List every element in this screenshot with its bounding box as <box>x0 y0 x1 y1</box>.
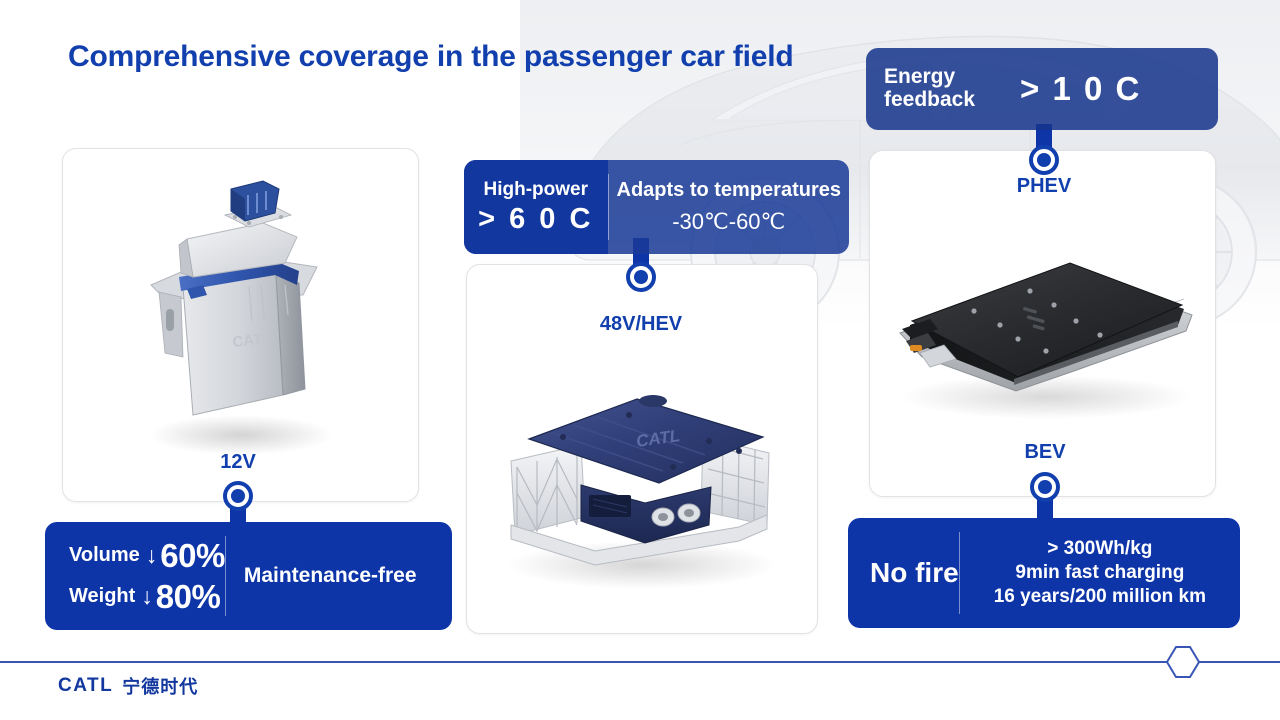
weight-value: 80% <box>156 578 221 616</box>
ring-center-dot <box>231 489 245 503</box>
temperature-section: Adapts to temperatures -30℃-60℃ <box>609 179 850 235</box>
12v-battery-module-image: CATL <box>121 167 361 467</box>
callout-high-power[interactable]: High-power > 6 0 C Adapts to temperature… <box>464 160 849 254</box>
bev-specs-list: > 300Wh/kg 9min fast charging 16 years/2… <box>960 538 1224 608</box>
high-power-value: > 6 0 C <box>478 203 593 236</box>
ring-center-dot <box>1037 153 1051 167</box>
callout-no-fire[interactable]: No fire > 300Wh/kg 9min fast charging 16… <box>848 518 1240 628</box>
maintenance-free-label: Maintenance-free <box>226 564 417 588</box>
product-label-48v: 48V/HEV <box>600 313 682 336</box>
volume-value: 60% <box>160 537 225 575</box>
high-power-section: High-power > 6 0 C <box>464 160 608 254</box>
high-power-label: High-power <box>484 179 589 201</box>
callout-energy-feedback[interactable]: Energy feedback > 1 0 C <box>866 48 1218 130</box>
page-title: Comprehensive coverage in the passenger … <box>68 40 793 74</box>
energy-feedback-value: > 1 0 C <box>1020 70 1141 108</box>
stat-row-weight: Weight ↓ 80% <box>69 578 225 616</box>
callout-volume-weight[interactable]: Volume ↓ 60% Weight ↓ 80% Maintenance-fr… <box>45 522 452 630</box>
weight-key: Weight <box>69 585 135 608</box>
ring-center-dot <box>1038 480 1052 494</box>
catl-logo: CATL 宁德时代 <box>58 673 198 699</box>
48v-hev-battery-module-image: CATL <box>477 375 807 605</box>
spec-energy-density: > 300Wh/kg <box>1047 538 1152 560</box>
footer-divider <box>0 661 1280 663</box>
volume-key: Volume <box>69 544 140 567</box>
spec-fast-charging: 9min fast charging <box>1015 562 1184 584</box>
temperature-title: Adapts to temperatures <box>617 179 842 202</box>
marker-ring-icon-bev[interactable] <box>1030 472 1060 502</box>
volume-weight-stats: Volume ↓ 60% Weight ↓ 80% <box>69 537 225 616</box>
temperature-range: -30℃-60℃ <box>672 209 785 235</box>
no-fire-headline: No fire <box>870 557 959 589</box>
product-label-bev: BEV <box>1024 441 1065 464</box>
marker-ring-icon-12v[interactable] <box>223 481 253 511</box>
product-label-12v: 12V <box>220 451 256 474</box>
bev-battery-pack-image <box>878 229 1208 429</box>
energy-feedback-label: Energy feedback <box>884 66 1002 111</box>
logo-latin-text: CATL <box>58 675 113 697</box>
marker-ring-icon-phev[interactable] <box>1029 145 1059 175</box>
stat-row-volume: Volume ↓ 60% <box>69 537 225 575</box>
slide-root: Comprehensive coverage in the passenger … <box>0 0 1280 720</box>
hexagon-icon <box>1165 645 1201 679</box>
ring-center-dot <box>634 270 648 284</box>
logo-chinese-text: 宁德时代 <box>122 673 198 699</box>
down-arrow-icon: ↓ <box>141 585 153 608</box>
product-card-12v[interactable]: CATL <box>62 148 419 502</box>
product-label-phev: PHEV <box>1017 175 1071 198</box>
down-arrow-icon: ↓ <box>146 544 158 567</box>
marker-ring-icon-48v[interactable] <box>626 262 656 292</box>
spec-lifetime: 16 years/200 million km <box>994 586 1206 608</box>
